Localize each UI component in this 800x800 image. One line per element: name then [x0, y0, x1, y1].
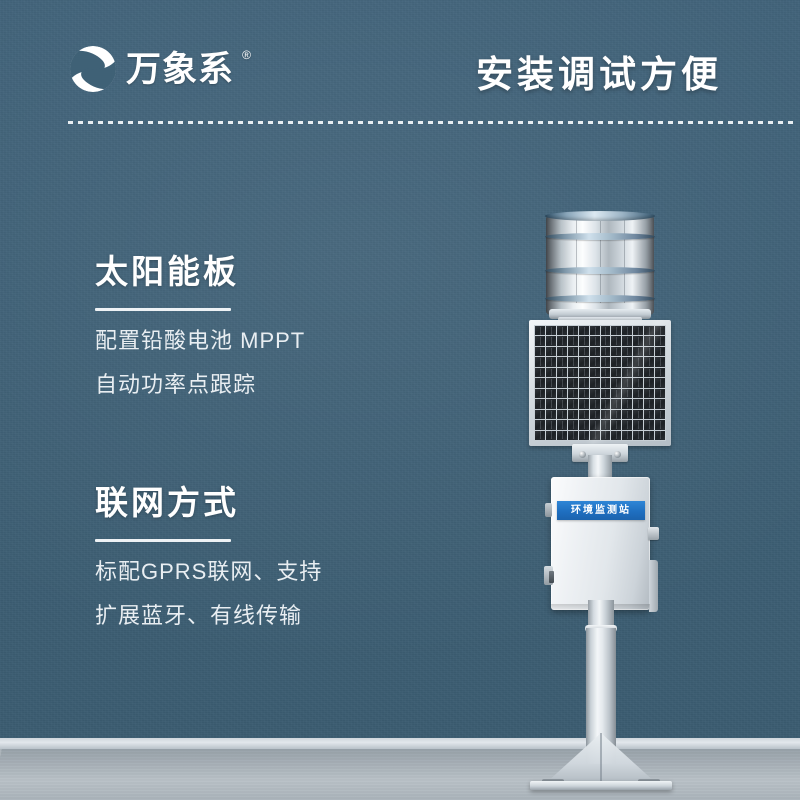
feature-block-network: 联网方式 标配GPRS联网、支持 扩展蓝牙、有线传输: [95, 483, 322, 627]
solar-cell: [535, 399, 545, 408]
solar-cell: [644, 410, 654, 419]
control-box-latch: [549, 571, 554, 583]
solar-cell: [655, 326, 665, 335]
solar-cell: [601, 326, 611, 335]
solar-cell: [546, 431, 556, 440]
solar-cell: [655, 431, 665, 440]
solar-cell: [579, 336, 589, 345]
solar-cell: [557, 368, 567, 377]
solar-cell: [535, 357, 545, 366]
solar-cell: [568, 347, 578, 356]
control-box-nameplate: 环境监测站: [557, 501, 645, 520]
solar-cell: [622, 347, 632, 356]
solar-cell: [611, 431, 621, 440]
feature-line: 自动功率点跟踪: [95, 374, 305, 396]
solar-cell: [579, 410, 589, 419]
solar-panel-frame: [529, 320, 671, 446]
solar-cell: [557, 336, 567, 345]
solar-cell: [655, 410, 665, 419]
solar-cell: [601, 399, 611, 408]
rain-gauge-band: [545, 233, 655, 240]
solar-cell: [535, 410, 545, 419]
solar-cell: [601, 410, 611, 419]
brand-wordmark: 万象系 ®: [126, 52, 234, 87]
solar-cell: [568, 336, 578, 345]
solar-cell: [622, 378, 632, 387]
solar-cell: [601, 336, 611, 345]
feature-title: 联网方式: [95, 483, 322, 523]
solar-cell: [611, 357, 621, 366]
control-box: [551, 477, 650, 610]
solar-cell: [633, 326, 643, 335]
solar-cell: [601, 378, 611, 387]
solar-cell: [622, 410, 632, 419]
baseboard-strip: [0, 738, 800, 749]
floor-reflection: [0, 749, 800, 800]
solar-cell: [546, 399, 556, 408]
solar-cell: [546, 326, 556, 335]
solar-cell: [633, 378, 643, 387]
solar-cell: [579, 420, 589, 429]
rain-gauge-funnel-rim: [545, 211, 655, 221]
rain-gauge-band: [545, 295, 655, 302]
solar-cell: [644, 357, 654, 366]
solar-cell: [622, 420, 632, 429]
solar-cell: [633, 347, 643, 356]
solar-cell: [557, 378, 567, 387]
solar-cell: [601, 347, 611, 356]
solar-cell: [601, 357, 611, 366]
solar-cell: [655, 357, 665, 366]
solar-cell: [622, 326, 632, 335]
solar-cell: [633, 389, 643, 398]
solar-cell: [579, 357, 589, 366]
header-dashed-divider: [68, 121, 794, 124]
solar-cell: [633, 420, 643, 429]
solar-cell: [644, 431, 654, 440]
solar-cell: [601, 389, 611, 398]
solar-cell: [655, 347, 665, 356]
solar-cell: [590, 357, 600, 366]
solar-cell: [655, 420, 665, 429]
solar-cell: [546, 378, 556, 387]
solar-cell: [568, 389, 578, 398]
solar-cell: [601, 420, 611, 429]
solar-cell: [633, 368, 643, 377]
pole-base-seam: [600, 733, 602, 783]
solar-cell: [611, 347, 621, 356]
brand-lockup: 万象系 ®: [68, 44, 234, 94]
solar-cell: [611, 410, 621, 419]
solar-cell: [644, 389, 654, 398]
rain-gauge-seam: [600, 217, 601, 303]
solar-cell: [590, 420, 600, 429]
solar-cell: [546, 420, 556, 429]
solar-cell: [590, 410, 600, 419]
control-box-side-face: [649, 560, 658, 612]
solar-cell: [579, 347, 589, 356]
solar-cell: [622, 389, 632, 398]
solar-cell: [557, 431, 567, 440]
solar-cell: [568, 368, 578, 377]
floor-surface: [0, 749, 800, 800]
bracket-bolt-icon: [614, 451, 621, 458]
solar-cell: [622, 399, 632, 408]
solar-cell: [557, 347, 567, 356]
solar-cell-grid: [534, 325, 666, 441]
solar-cell: [655, 336, 665, 345]
solar-cell: [611, 420, 621, 429]
solar-cell: [655, 368, 665, 377]
solar-cell: [557, 410, 567, 419]
rain-gauge-seam: [576, 217, 577, 303]
solar-cell: [568, 399, 578, 408]
solar-cell: [590, 378, 600, 387]
rain-gauge-seam: [624, 217, 625, 303]
solar-cell: [546, 389, 556, 398]
solar-cell: [557, 420, 567, 429]
solar-cell: [535, 431, 545, 440]
rain-gauge-sensor: [546, 209, 654, 321]
solar-cell: [546, 336, 556, 345]
feature-divider: [95, 308, 231, 311]
bracket-bolt-icon: [579, 451, 586, 458]
solar-cell: [655, 389, 665, 398]
solar-cell: [557, 326, 567, 335]
feature-line: 扩展蓝牙、有线传输: [95, 605, 322, 627]
control-box-nameplate-text: 环境监测站: [571, 506, 631, 516]
solar-cell: [611, 368, 621, 377]
solar-cell: [590, 389, 600, 398]
solar-cell: [611, 399, 621, 408]
solar-cell: [557, 389, 567, 398]
solar-cell: [557, 399, 567, 408]
solar-cell: [579, 368, 589, 377]
solar-cell: [644, 336, 654, 345]
solar-cell: [644, 399, 654, 408]
brand-name-text: 万象系: [126, 50, 234, 89]
solar-cell: [535, 326, 545, 335]
solar-cell: [546, 357, 556, 366]
solar-cell: [590, 431, 600, 440]
solar-cell: [535, 389, 545, 398]
solar-cell: [644, 378, 654, 387]
solar-cell: [568, 420, 578, 429]
solar-cell: [579, 431, 589, 440]
solar-cell: [568, 326, 578, 335]
solar-cell: [633, 357, 643, 366]
solar-cell: [546, 347, 556, 356]
solar-cell: [633, 410, 643, 419]
solar-cell: [655, 378, 665, 387]
solar-cell: [601, 431, 611, 440]
feature-divider: [95, 539, 231, 542]
solar-cell: [579, 326, 589, 335]
solar-cell: [535, 347, 545, 356]
solar-cell: [633, 399, 643, 408]
solar-panel: [529, 320, 671, 446]
solar-cell: [590, 326, 600, 335]
solar-cell: [535, 336, 545, 345]
feature-block-solar-panel: 太阳能板 配置铅酸电池 MPPT 自动功率点跟踪: [95, 252, 305, 396]
solar-cell: [644, 420, 654, 429]
solar-cell: [611, 336, 621, 345]
solar-cell: [601, 368, 611, 377]
solar-cell: [590, 368, 600, 377]
solar-cell: [644, 326, 654, 335]
solar-cell: [644, 368, 654, 377]
solar-cell: [568, 410, 578, 419]
solar-cell: [622, 357, 632, 366]
solar-cell: [568, 378, 578, 387]
solar-cell: [535, 378, 545, 387]
solar-cell: [644, 347, 654, 356]
solar-cell: [590, 347, 600, 356]
solar-cell: [590, 336, 600, 345]
feature-title: 太阳能板: [95, 252, 305, 292]
solar-cell: [611, 326, 621, 335]
solar-cell: [611, 389, 621, 398]
solar-cell: [557, 357, 567, 366]
solar-cell: [568, 431, 578, 440]
solar-cell: [579, 389, 589, 398]
feature-line: 标配GPRS联网、支持: [95, 561, 322, 583]
solar-cell: [546, 410, 556, 419]
pole-base-plate: [530, 781, 672, 790]
banner-header: 万象系 ® 安装调试方便: [0, 0, 800, 124]
solar-cell: [535, 368, 545, 377]
solar-cell: [611, 378, 621, 387]
cable-gland: [648, 527, 659, 540]
promo-banner: 万象系 ® 安装调试方便 太阳能板 配置铅酸电池 MPPT 自动功率点跟踪 联网…: [0, 0, 800, 800]
solar-cell: [622, 368, 632, 377]
solar-cell: [568, 357, 578, 366]
rain-gauge-band: [545, 267, 655, 274]
control-box-hinge: [545, 503, 552, 517]
solar-cell: [590, 399, 600, 408]
solar-cell: [622, 431, 632, 440]
solar-cell: [579, 378, 589, 387]
solar-cell: [535, 420, 545, 429]
solar-cell: [546, 368, 556, 377]
feature-line: 配置铅酸电池 MPPT: [95, 330, 305, 352]
solar-cell: [633, 431, 643, 440]
registered-trademark-icon: ®: [242, 49, 251, 61]
page-title: 安装调试方便: [476, 52, 722, 98]
solar-cell: [633, 336, 643, 345]
solar-cell: [622, 336, 632, 345]
globe-swoosh-logo-icon: [68, 44, 118, 94]
solar-cell: [579, 399, 589, 408]
solar-cell: [655, 399, 665, 408]
